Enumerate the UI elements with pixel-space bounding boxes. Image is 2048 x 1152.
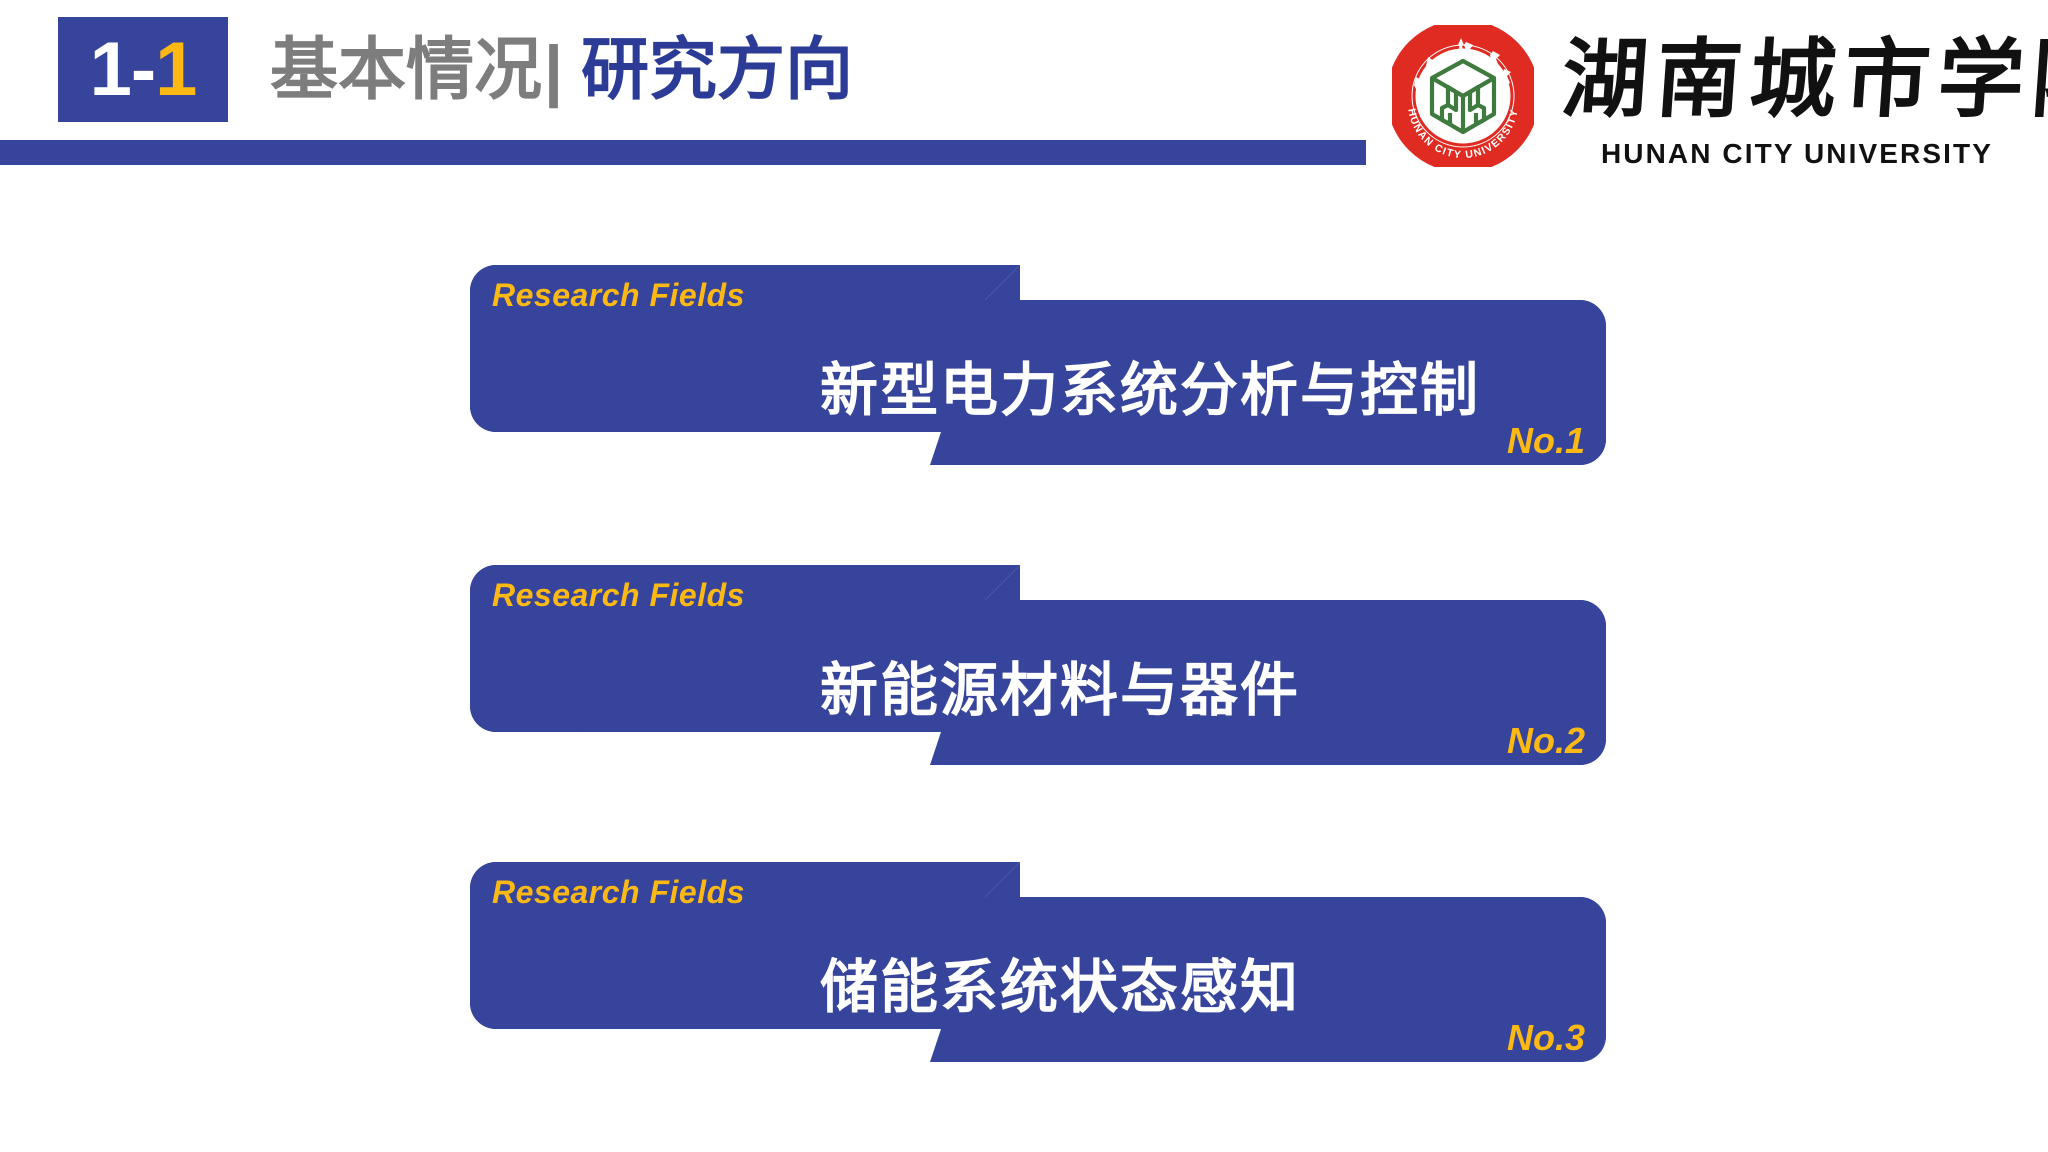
card-label: Research Fields [492, 277, 745, 314]
card-number: No.3 [1465, 1017, 1585, 1059]
card-number: No.2 [1465, 720, 1585, 762]
research-fields-list: Research Fields 新型电力系统分析与控制 No.1 Researc… [0, 0, 2048, 1152]
card-number: No.1 [1465, 420, 1585, 462]
card-title: 新型电力系统分析与控制 [820, 343, 1480, 427]
card-label: Research Fields [492, 874, 745, 911]
card-title: 储能系统状态感知 [820, 940, 1300, 1024]
research-field-card[interactable]: Research Fields 储能系统状态感知 No.3 [0, 862, 2048, 1092]
card-title: 新能源材料与器件 [820, 643, 1300, 727]
research-field-card[interactable]: Research Fields 新型电力系统分析与控制 No.1 [0, 265, 2048, 495]
research-field-card[interactable]: Research Fields 新能源材料与器件 No.2 [0, 565, 2048, 795]
card-label: Research Fields [492, 577, 745, 614]
